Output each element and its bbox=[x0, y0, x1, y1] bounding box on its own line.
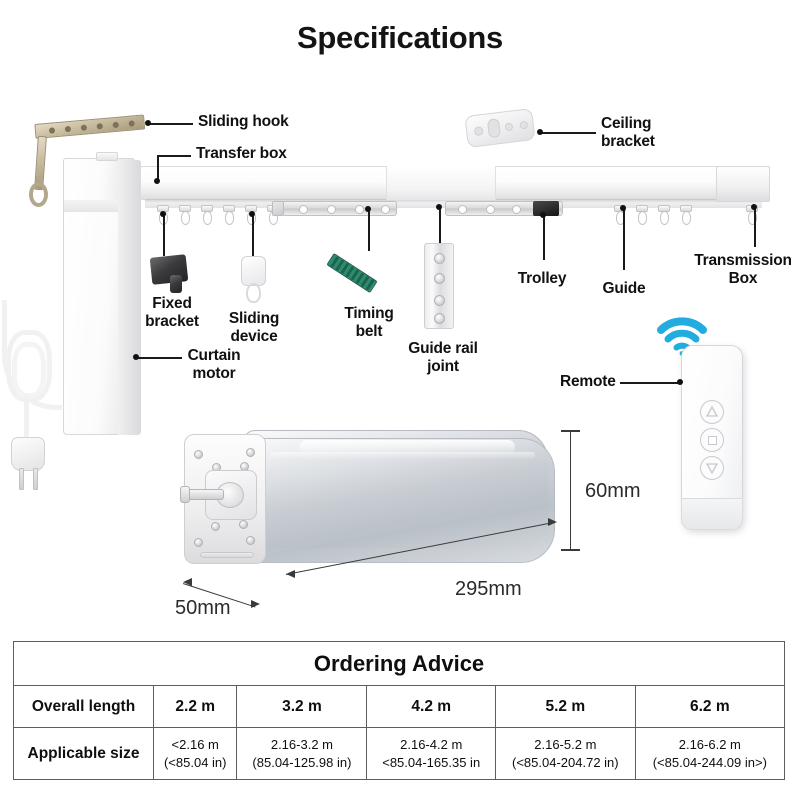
dot-sliding-hook bbox=[145, 120, 151, 126]
transfer-box-part bbox=[386, 166, 496, 200]
motor-shaft-tip bbox=[180, 486, 190, 503]
triangle-down-icon bbox=[707, 464, 717, 473]
leader-transmission-box bbox=[754, 207, 756, 247]
leader-remote bbox=[620, 382, 680, 384]
remote-stop-button[interactable] bbox=[700, 428, 724, 452]
cell-size-1: <2.16 m (<85.04 in) bbox=[154, 728, 237, 780]
label-sliding-hook: Sliding hook bbox=[198, 113, 289, 131]
motor-shaft bbox=[186, 489, 224, 500]
dot-transfer-box bbox=[154, 178, 160, 184]
row-header-applicable-size: Applicable size bbox=[14, 728, 154, 780]
transmission-box-part bbox=[716, 166, 770, 202]
cell-length-3: 4.2 m bbox=[367, 686, 496, 728]
triangle-up-icon bbox=[707, 407, 717, 416]
dot-ceiling-bracket bbox=[537, 129, 543, 135]
remote-battery-cover bbox=[681, 498, 743, 530]
cell-length-5: 6.2 m bbox=[635, 686, 784, 728]
ordering-advice-table: Ordering Advice Overall length 2.2 m 3.2… bbox=[13, 641, 785, 780]
leader-curtain-motor bbox=[138, 357, 182, 359]
leader-transfer-box-h bbox=[157, 155, 191, 157]
dot-remote bbox=[677, 379, 683, 385]
dot-sliding-device bbox=[249, 211, 255, 217]
leader-transfer-box-v bbox=[157, 155, 159, 180]
leader-guide-rail-joint bbox=[439, 207, 441, 243]
cell-size-3: 2.16-4.2 m <85.04-165.35 in bbox=[367, 728, 496, 780]
cell-size-4: 2.16-5.2 m (<85.04-204.72 in) bbox=[496, 728, 636, 780]
label-timing-belt: Timing belt bbox=[338, 305, 400, 342]
dot-fixed-bracket bbox=[160, 211, 166, 217]
dot-timing-belt bbox=[365, 206, 371, 212]
cell-length-1: 2.2 m bbox=[154, 686, 237, 728]
specifications-page: Specifications bbox=[0, 0, 800, 800]
dot-transmission-box bbox=[751, 204, 757, 210]
leader-ceiling-bracket bbox=[541, 132, 596, 134]
label-trolley: Trolley bbox=[509, 270, 575, 288]
dimension-depth-label: 50mm bbox=[175, 597, 231, 620]
cell-length-4: 5.2 m bbox=[496, 686, 636, 728]
trolley-end-stop bbox=[272, 201, 284, 216]
sliding-device-part bbox=[241, 256, 266, 286]
cell-size-5: 2.16-6.2 m (<85.04-244.09 in>) bbox=[635, 728, 784, 780]
leader-timing-belt bbox=[368, 209, 370, 251]
ceiling-bracket-part bbox=[464, 108, 535, 148]
timing-belt-part bbox=[326, 253, 377, 293]
label-transmission-box: Transmission Box bbox=[688, 252, 798, 289]
motor-side-face bbox=[118, 160, 141, 435]
cell-length-2: 3.2 m bbox=[237, 686, 367, 728]
leader-trolley bbox=[543, 216, 545, 260]
dot-trolley bbox=[540, 212, 546, 218]
leader-guide bbox=[623, 208, 625, 270]
cell-size-2: 2.16-3.2 m (85.04-125.98 in) bbox=[237, 728, 367, 780]
leader-fixed-bracket bbox=[163, 214, 165, 256]
plug-prong-left bbox=[19, 468, 24, 490]
guide-bar-left bbox=[282, 201, 397, 216]
label-sliding-device: Sliding device bbox=[221, 310, 287, 347]
motor-mount-rib bbox=[200, 552, 254, 558]
label-transfer-box: Transfer box bbox=[196, 145, 287, 163]
dimension-length-label: 295mm bbox=[455, 578, 522, 601]
remote-up-button[interactable] bbox=[700, 400, 724, 424]
guide-rail-joint-part bbox=[424, 243, 454, 329]
sliding-device-ring bbox=[246, 283, 261, 303]
plug-prong-right bbox=[33, 468, 38, 490]
label-remote: Remote bbox=[560, 373, 616, 391]
power-plug bbox=[11, 437, 45, 471]
label-guide-rail-joint: Guide rail joint bbox=[396, 340, 490, 377]
dot-guide-rail-joint bbox=[436, 204, 442, 210]
trolley-part bbox=[533, 201, 559, 216]
table-title-row: Ordering Advice bbox=[14, 642, 785, 686]
table-title: Ordering Advice bbox=[14, 642, 785, 686]
label-fixed-bracket: Fixed bracket bbox=[140, 295, 204, 332]
dot-curtain-motor bbox=[133, 354, 139, 360]
dot-guide bbox=[620, 205, 626, 211]
table-row-applicable-size: Applicable size <2.16 m (<85.04 in) 2.16… bbox=[14, 728, 785, 780]
fixed-bracket-part bbox=[150, 254, 189, 285]
table-row-overall-length: Overall length 2.2 m 3.2 m 4.2 m 5.2 m 6… bbox=[14, 686, 785, 728]
leader-sliding-device bbox=[252, 214, 254, 256]
label-curtain-motor: Curtain motor bbox=[178, 347, 250, 384]
remote-down-button[interactable] bbox=[700, 456, 724, 480]
label-guide: Guide bbox=[596, 280, 652, 298]
page-title: Specifications bbox=[0, 20, 800, 56]
row-header-overall-length: Overall length bbox=[14, 686, 154, 728]
square-icon bbox=[708, 436, 717, 445]
label-ceiling-bracket: Ceiling bracket bbox=[601, 115, 655, 152]
fixed-bracket-tail bbox=[170, 275, 182, 293]
motor-top-clip bbox=[96, 152, 118, 161]
leader-sliding-hook bbox=[148, 123, 193, 125]
dimension-height-label: 60mm bbox=[585, 480, 641, 503]
